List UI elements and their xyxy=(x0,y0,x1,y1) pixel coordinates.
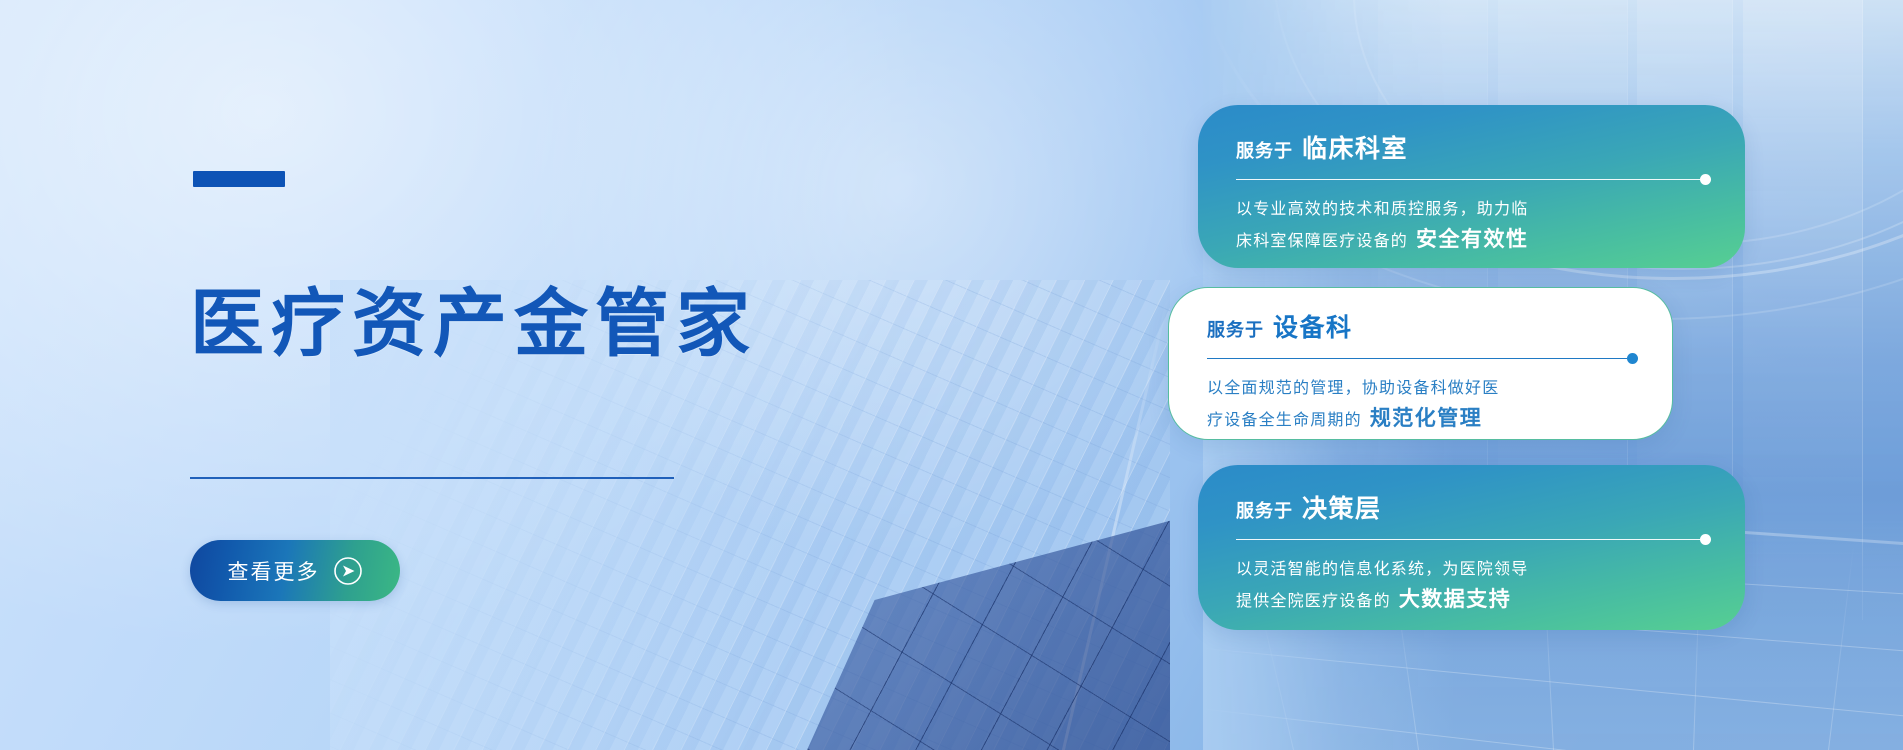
card-desc-normal: 提供全院医疗设备的 xyxy=(1236,589,1391,615)
card-rule-line xyxy=(1236,179,1700,180)
card-desc-line-1: 以专业高效的技术和质控服务，助力临 xyxy=(1236,197,1711,223)
card-rule xyxy=(1207,358,1638,359)
card-desc-normal: 疗设备全生命周期的 xyxy=(1207,408,1362,434)
card-description: 以灵活智能的信息化系统，为医院领导 提供全院医疗设备的 大数据支持 xyxy=(1236,557,1711,617)
card-keyword: 设备科 xyxy=(1273,308,1353,344)
card-keyword: 临床科室 xyxy=(1302,129,1408,165)
card-rule-line xyxy=(1207,358,1627,359)
card-desc-normal: 床科室保障医疗设备的 xyxy=(1236,229,1408,255)
hero-banner: 医疗资产金管家 查看更多 服务于 临床科室 以专业 xyxy=(0,0,1903,750)
card-heading: 服务于 临床科室 xyxy=(1236,129,1711,165)
card-desc-highlight: 规范化管理 xyxy=(1370,402,1483,436)
card-desc-line-2: 床科室保障医疗设备的 安全有效性 xyxy=(1236,223,1711,257)
card-rule-dot xyxy=(1700,174,1711,185)
service-card-clinical[interactable]: 服务于 临床科室 以专业高效的技术和质控服务，助力临 床科室保障医疗设备的 安全… xyxy=(1198,105,1745,268)
card-desc-highlight: 安全有效性 xyxy=(1416,223,1529,257)
card-keyword: 决策层 xyxy=(1302,489,1382,525)
card-prefix: 服务于 xyxy=(1236,137,1293,163)
service-card-list: 服务于 临床科室 以专业高效的技术和质控服务，助力临 床科室保障医疗设备的 安全… xyxy=(0,0,1903,750)
service-card-decision[interactable]: 服务于 决策层 以灵活智能的信息化系统，为医院领导 提供全院医疗设备的 大数据支… xyxy=(1198,465,1745,630)
card-desc-line-2: 提供全院医疗设备的 大数据支持 xyxy=(1236,583,1711,617)
card-description: 以全面规范的管理，协助设备科做好医 疗设备全生命周期的 规范化管理 xyxy=(1207,376,1638,436)
card-heading: 服务于 设备科 xyxy=(1207,308,1638,344)
card-desc-line-2: 疗设备全生命周期的 规范化管理 xyxy=(1207,402,1638,436)
card-description: 以专业高效的技术和质控服务，助力临 床科室保障医疗设备的 安全有效性 xyxy=(1236,197,1711,257)
card-prefix: 服务于 xyxy=(1236,497,1293,523)
card-heading: 服务于 决策层 xyxy=(1236,489,1711,525)
card-desc-line-1: 以灵活智能的信息化系统，为医院领导 xyxy=(1236,557,1711,583)
card-desc-highlight: 大数据支持 xyxy=(1399,583,1512,617)
card-rule-dot xyxy=(1700,534,1711,545)
card-rule xyxy=(1236,539,1711,540)
service-card-equipment[interactable]: 服务于 设备科 以全面规范的管理，协助设备科做好医 疗设备全生命周期的 规范化管… xyxy=(1168,287,1673,440)
card-rule-line xyxy=(1236,539,1700,540)
card-rule-dot xyxy=(1627,353,1638,364)
card-prefix: 服务于 xyxy=(1207,316,1264,342)
card-rule xyxy=(1236,179,1711,180)
card-desc-line-1: 以全面规范的管理，协助设备科做好医 xyxy=(1207,376,1638,402)
